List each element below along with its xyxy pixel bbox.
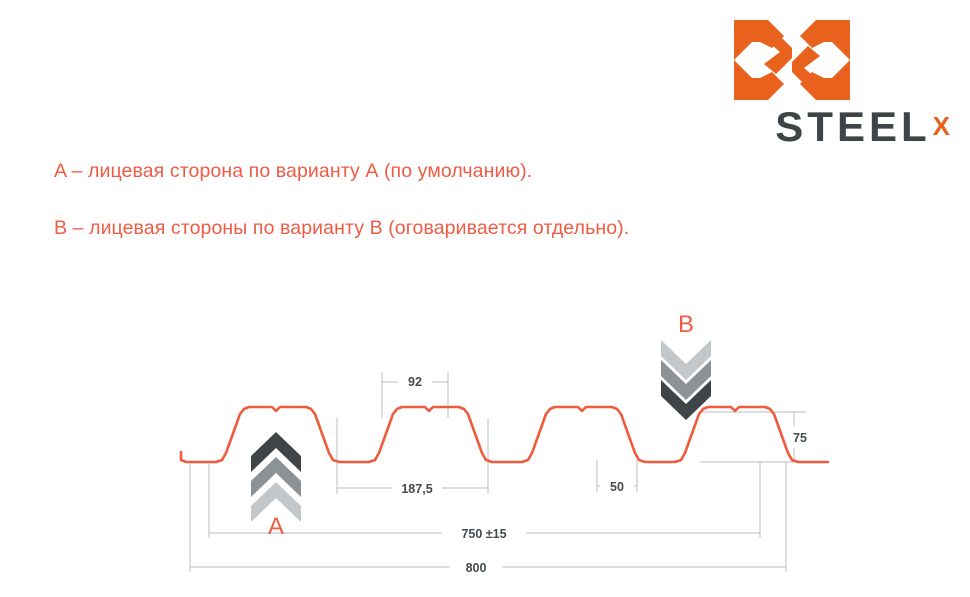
marker-a: A — [251, 432, 301, 540]
note-variant-a: A – лицевая сторона по варианту А (по ум… — [54, 160, 532, 183]
dimension-label-overall-width: 800 — [466, 561, 487, 575]
dimension-label-pitch: 187,5 — [401, 482, 432, 496]
dimension-label-useful-width: 750 ±15 — [461, 527, 506, 541]
dimension-labels: 92 187,5 50 750 ±15 800 75 — [401, 375, 807, 575]
logo-wordmark: STEEL X — [690, 108, 950, 148]
dimension-label-valley-width: 50 — [610, 480, 624, 494]
profile-technical-drawing: 92 187,5 50 750 ±15 800 75 A B — [0, 290, 970, 590]
marker-b: B — [661, 311, 711, 420]
logo-wordmark-text: STEEL — [775, 106, 930, 148]
logo-wordmark-suffix: X — [933, 113, 950, 139]
dimension-label-height: 75 — [793, 431, 807, 445]
marker-b-label: B — [678, 311, 694, 338]
chevron-up-stack-icon — [251, 432, 301, 522]
note-variant-b: B – лицевая стороны по варианту В (огова… — [54, 217, 629, 240]
marker-a-label: A — [268, 513, 284, 540]
brand-logo: STEEL X — [690, 18, 950, 146]
steelx-x-mark-icon — [732, 18, 852, 102]
page-root: STEEL X A – лицевая сторона по варианту … — [0, 0, 970, 597]
dimension-label-crest-width: 92 — [408, 375, 422, 389]
